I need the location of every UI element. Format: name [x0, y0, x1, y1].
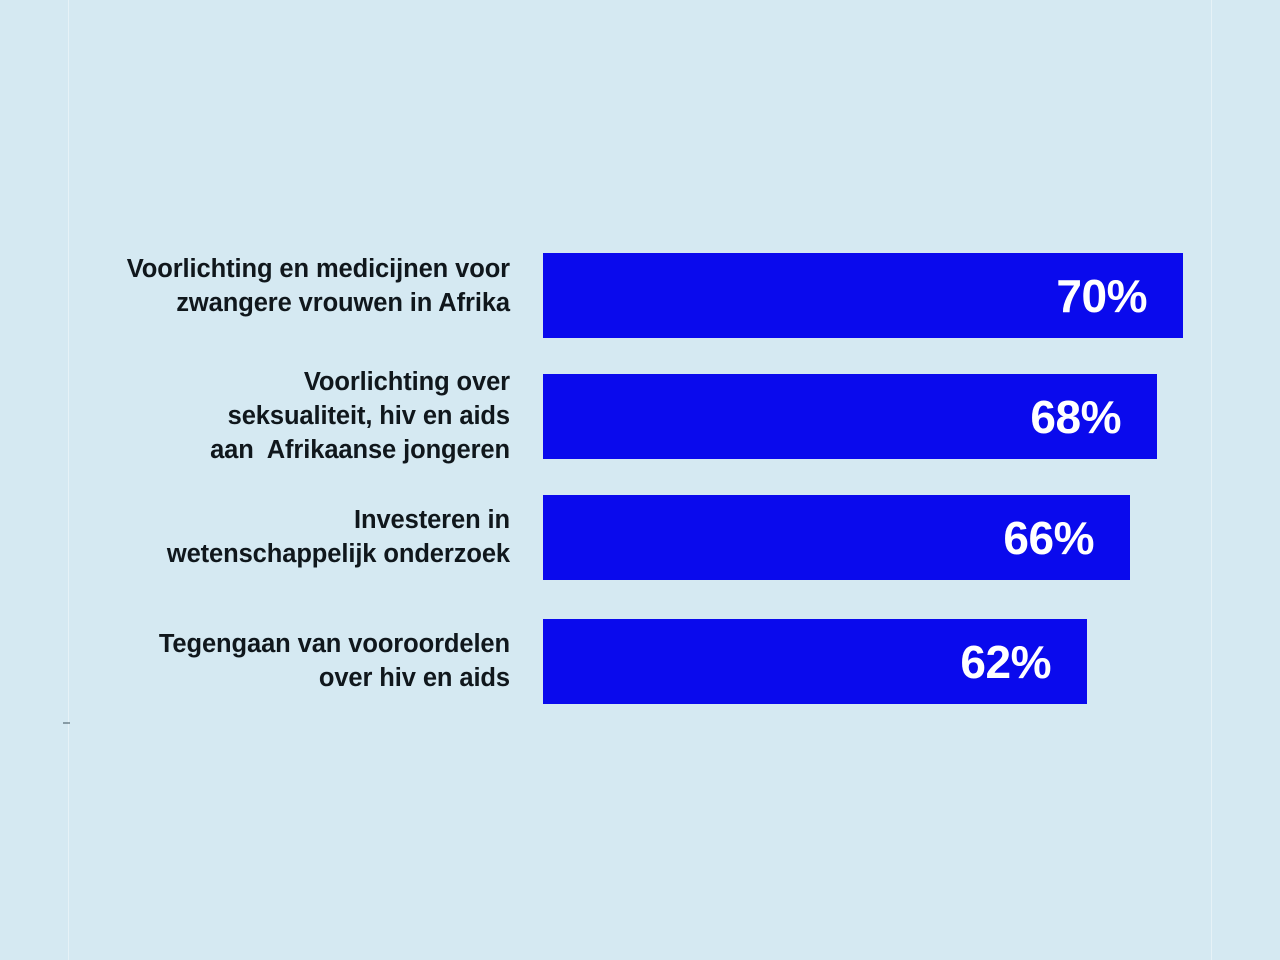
bar-value-label: 62%	[960, 639, 1051, 685]
bar-fill[interactable]: 66%	[543, 495, 1130, 580]
bar-category-label: Voorlichting en medicijnen voor zwangere…	[40, 252, 510, 320]
bar-value-label: 70%	[1056, 273, 1147, 319]
bar-value-label: 66%	[1003, 515, 1094, 561]
bar-track: 70%	[543, 253, 1183, 338]
bars-area: Voorlichting en medicijnen voor zwangere…	[0, 0, 1280, 960]
bar-track: 68%	[543, 374, 1157, 459]
bar-category-label: Voorlichting over seksualiteit, hiv en a…	[40, 365, 510, 467]
bar-track: 66%	[543, 495, 1130, 580]
bar-fill[interactable]: 70%	[543, 253, 1183, 338]
bar-fill[interactable]: 62%	[543, 619, 1087, 704]
bar-fill[interactable]: 68%	[543, 374, 1157, 459]
bar-category-label: Investeren in wetenschappelijk onderzoek	[40, 503, 510, 571]
bar-value-label: 68%	[1030, 394, 1121, 440]
bar-chart: Voorlichting en medicijnen voor zwangere…	[0, 0, 1280, 960]
bar-category-label: Tegengaan van vooroordelen over hiv en a…	[40, 627, 510, 695]
bar-track: 62%	[543, 619, 1087, 704]
